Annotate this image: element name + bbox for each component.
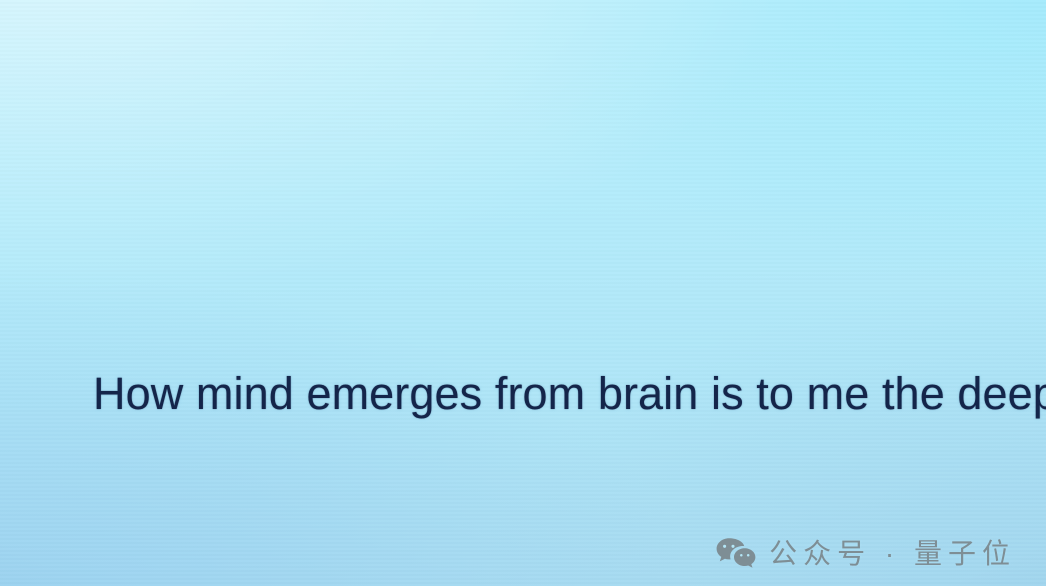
quote-text-block: How mind emerges from brain is to me the… bbox=[93, 206, 1023, 586]
watermark-text: 公众号 · 量子位 bbox=[769, 540, 1018, 568]
watermark: 公众号 · 量子位 bbox=[716, 537, 1018, 570]
quote-line-2: question posed by our humanity bbox=[93, 581, 1023, 586]
presentation-slide: How mind emerges from brain is to me the… bbox=[0, 0, 1046, 586]
quote-line-1: How mind emerges from brain is to me the… bbox=[93, 356, 1023, 431]
wechat-icon bbox=[716, 537, 756, 570]
